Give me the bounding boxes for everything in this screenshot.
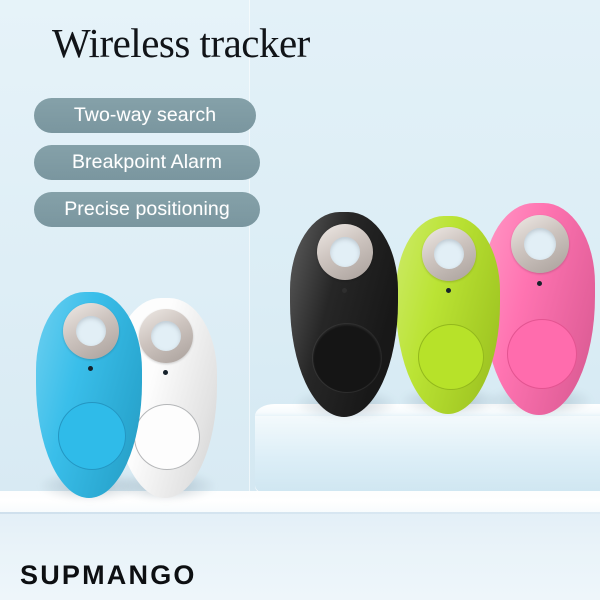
floor-seam <box>0 512 600 514</box>
led-indicator-dot <box>163 370 168 375</box>
brand-logo-text: SUPMANGO <box>20 560 197 591</box>
press-button[interactable] <box>418 324 484 390</box>
feature-pill-two-way-search: Two-way search <box>34 98 256 133</box>
keyring-icon <box>139 309 193 363</box>
keyring-icon <box>63 303 119 359</box>
led-indicator-dot <box>342 288 347 293</box>
keyring-hole <box>151 321 181 351</box>
press-button[interactable] <box>134 404 200 470</box>
keyring-icon <box>422 227 476 281</box>
feature-pill-label: Precise positioning <box>64 198 230 221</box>
feature-pill-precise-positioning: Precise positioning <box>34 192 260 227</box>
keyring-hole <box>76 316 106 346</box>
product-tracker-black[interactable] <box>290 212 398 417</box>
page-title: Wireless tracker <box>52 18 310 68</box>
press-button[interactable] <box>313 324 381 392</box>
keyring-icon <box>511 215 569 273</box>
led-indicator-dot <box>88 366 93 371</box>
keyring-hole <box>434 239 464 269</box>
feature-pill-label: Two-way search <box>74 104 216 127</box>
press-button[interactable] <box>507 319 577 389</box>
feature-pill-label: Breakpoint Alarm <box>72 151 222 174</box>
product-banner: Wireless tracker Two-way search Breakpoi… <box>0 0 600 600</box>
led-indicator-dot <box>446 288 451 293</box>
keyring-hole <box>330 237 360 267</box>
feature-pill-breakpoint-alarm: Breakpoint Alarm <box>34 145 260 180</box>
keyring-hole <box>524 228 556 260</box>
led-indicator-dot <box>537 281 542 286</box>
product-tracker-blue[interactable] <box>36 292 142 498</box>
press-button[interactable] <box>58 402 126 470</box>
product-tracker-green[interactable] <box>396 216 500 414</box>
keyring-icon <box>317 224 373 280</box>
display-pedestal <box>255 406 600 494</box>
